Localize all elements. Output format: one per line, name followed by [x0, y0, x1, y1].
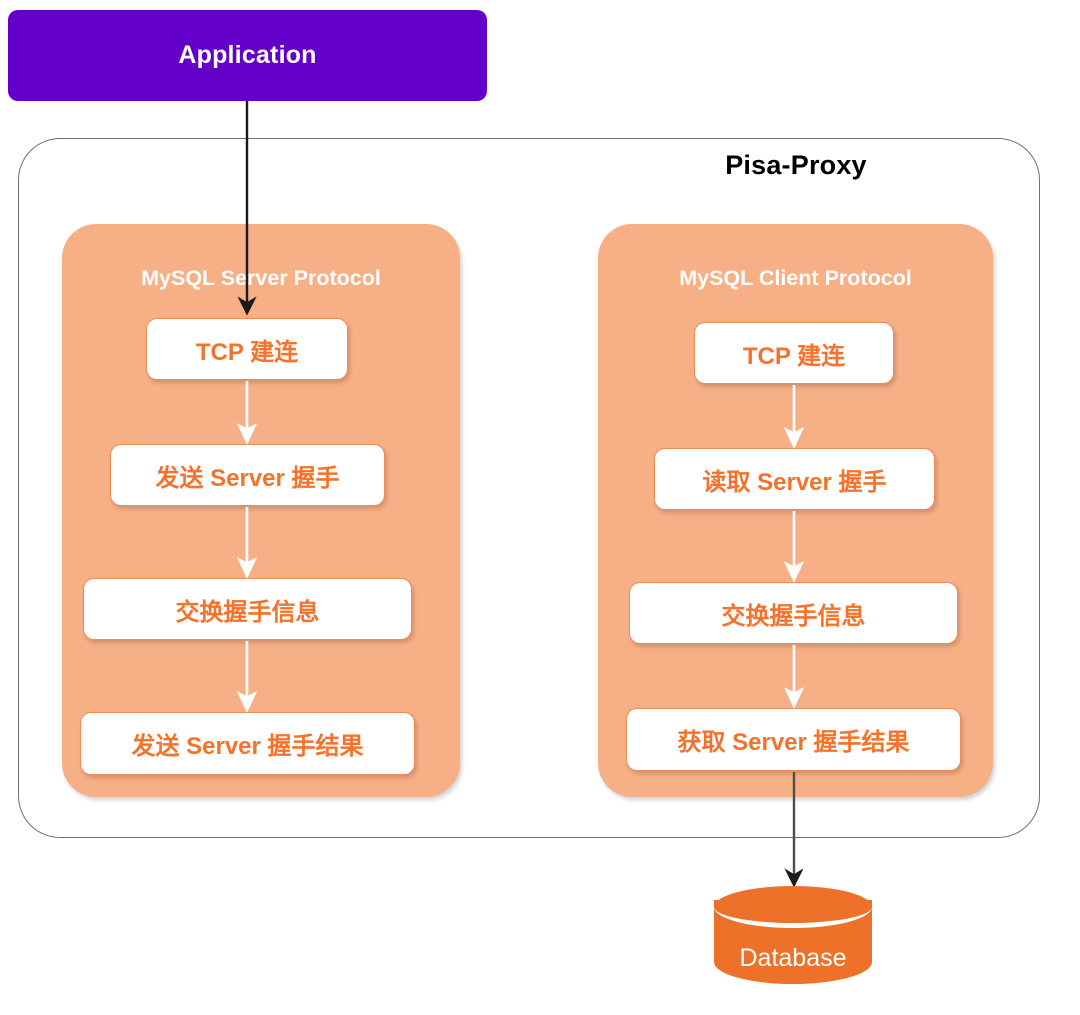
step-client-get-handshake-result[interactable]: 获取 Server 握手结果: [626, 708, 961, 771]
diagram-canvas: Application Pisa-Proxy MySQL Server Prot…: [0, 0, 1080, 1015]
step-server-tcp-connect[interactable]: TCP 建连: [146, 318, 348, 380]
database-cylinder-icon[interactable]: Database: [714, 886, 872, 998]
step-label: 交换握手信息: [722, 596, 866, 631]
pisa-proxy-title: Pisa-Proxy: [686, 150, 906, 181]
step-server-send-handshake[interactable]: 发送 Server 握手: [110, 444, 385, 506]
step-label: 读取 Server 握手: [702, 462, 886, 497]
step-client-tcp-connect[interactable]: TCP 建连: [694, 322, 894, 384]
step-client-exchange-handshake-info[interactable]: 交换握手信息: [629, 582, 958, 644]
step-label: TCP 建连: [743, 336, 845, 371]
panel-mysql-server-protocol-title: MySQL Server Protocol: [62, 266, 460, 291]
database-label: Database: [714, 944, 872, 973]
step-client-read-handshake[interactable]: 读取 Server 握手: [654, 448, 935, 510]
application-label: Application: [178, 41, 316, 70]
step-label: 发送 Server 握手结果: [131, 726, 363, 761]
application-box[interactable]: Application: [8, 10, 487, 101]
cylinder-top-icon: [714, 886, 872, 928]
step-label: TCP 建连: [196, 332, 298, 367]
panel-mysql-client-protocol-title: MySQL Client Protocol: [598, 266, 993, 291]
step-label: 获取 Server 握手结果: [677, 722, 909, 757]
step-label: 交换握手信息: [176, 592, 320, 627]
step-label: 发送 Server 握手: [155, 458, 339, 493]
step-server-exchange-handshake-info[interactable]: 交换握手信息: [83, 578, 412, 640]
step-server-send-handshake-result[interactable]: 发送 Server 握手结果: [80, 712, 415, 775]
